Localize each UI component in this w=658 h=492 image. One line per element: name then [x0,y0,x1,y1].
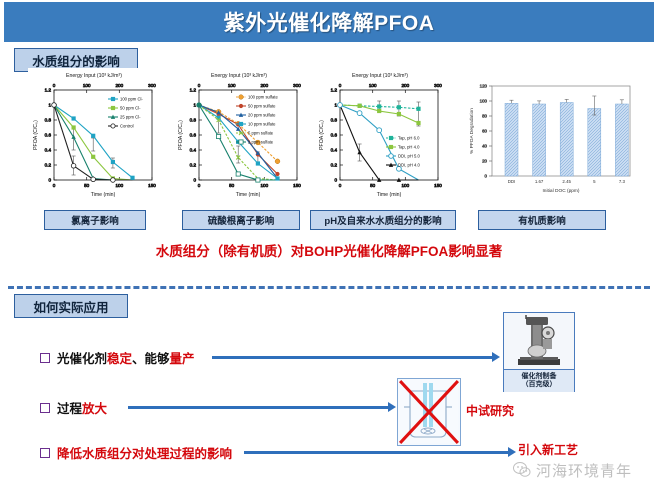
chart-organic-matter-effect: 0 20 40 60 80 100 120 [458,72,640,204]
svg-text:60: 60 [482,129,487,134]
svg-text:100 ppm sulfate: 100 ppm sulfate [248,95,278,100]
svg-text:100: 100 [401,183,409,188]
svg-text:0: 0 [339,83,342,88]
caption-sulfate-label: 硫酸根离子影响 [208,213,275,227]
catalyst-preparation-card: 催化剂制备 （百克级） [503,312,575,392]
svg-text:1.2: 1.2 [190,88,197,93]
svg-text:100: 100 [369,83,377,88]
svg-text:120: 120 [480,84,488,89]
svg-text:100: 100 [480,99,488,104]
chart-3-top-axis-label: Energy Input (10³ kJ/m³) [352,73,408,79]
svg-text:150: 150 [434,183,442,188]
bullet-process-scaleup: 过程放大 [40,398,107,417]
svg-text:5 ppm sulfate: 5 ppm sulfate [248,131,274,136]
svg-text:0.8: 0.8 [190,118,197,123]
chart-chloride-effect: Energy Input (10³ kJ/m³) 0 100 200 300 0… [28,68,161,206]
svg-text:7.3: 7.3 [619,179,626,184]
svg-text:0.4: 0.4 [45,148,52,153]
caption-organic-matter: 有机质影响 [478,210,606,230]
slide-title-bar: 紫外光催化降解PFOA [4,2,654,42]
chart-2-legend: 100 ppm sulfate 50 ppm sulfate 20 ppm su… [236,95,278,145]
caption-chloride: 氯离子影响 [44,210,146,230]
svg-text:0.8: 0.8 [331,118,338,123]
bullet-2-text: 过程放大 [57,398,107,417]
svg-text:0: 0 [198,183,201,188]
svg-text:DDI, pH 4.0: DDI, pH 4.0 [398,163,421,168]
chart-2-ylabel: PFOA (C/C₀) [178,120,184,150]
chart-1-legend: 100 ppm Cl- 50 ppm Cl- 25 ppm Cl- Contro… [108,97,143,129]
chart-1-svg: Energy Input (10³ kJ/m³) 0 100 200 300 0… [28,68,161,206]
chart-sulfate-effect: Energy Input (10³ kJ/m³) 0 100 200 300 0… [173,68,306,206]
chart-4-bars [505,103,628,177]
svg-text:1.2: 1.2 [45,88,52,93]
svg-text:0: 0 [339,183,342,188]
svg-text:5: 5 [593,179,596,184]
chart-4-ylabel: % PFOA Degradation [469,108,475,154]
catalyst-label-line1: 催化剂制备 [522,373,557,381]
svg-text:Tap, pH 6.0: Tap, pH 6.0 [398,136,420,141]
catalyst-label-line2: （百克级） [522,381,557,389]
chart-3-svg: Energy Input (10³ kJ/m³) 0 100 200 300 0… [314,68,447,206]
bullet-1-text: 光催化剂稳定、能够量产 [57,348,195,367]
caption-sulfate: 硫酸根离子影响 [182,210,300,230]
svg-text:10 ppm sulfate: 10 ppm sulfate [248,122,276,127]
svg-text:50: 50 [370,183,376,188]
svg-text:Tap, pH 4.0: Tap, pH 4.0 [398,145,420,150]
bullet-3-text: 降低水质组分对处理过程的影响 [57,443,232,462]
svg-text:1.2: 1.2 [331,88,338,93]
svg-text:Control: Control [120,124,134,129]
svg-text:1: 1 [193,103,196,108]
svg-text:150: 150 [293,183,301,188]
svg-text:0.6: 0.6 [45,133,52,138]
svg-text:100: 100 [83,83,91,88]
svg-text:80: 80 [482,114,487,119]
watermark-text: 河海环境青年 [536,460,632,481]
caption-ph-tapwater-label: pH及自来水水质组分的影响 [324,213,441,227]
caption-chloride-label: 氯离子影响 [71,213,119,227]
svg-text:50: 50 [84,183,90,188]
svg-text:1: 1 [48,103,51,108]
bullet-catalyst-stable: 光催化剂稳定、能够量产 [40,348,195,367]
slide-title: 紫外光催化降解PFOA [224,7,435,37]
svg-text:1: 1 [334,103,337,108]
chart-1-ylabel: PFOA (C/C₀) [33,120,39,150]
chart-4-xlabel: Initial DOC (ppm) [542,188,579,194]
chart-1-top-axis-label: Energy Input (10³ kJ/m³) [66,73,122,79]
svg-text:DDI: DDI [508,179,516,184]
caption-ph-tapwater: pH及自来水水质组分的影响 [310,210,456,230]
svg-text:0: 0 [53,183,56,188]
svg-text:40: 40 [482,144,487,149]
svg-text:150: 150 [148,183,156,188]
chart-2-svg: Energy Input (10³ kJ/m³) 0 100 200 300 0… [173,68,306,206]
pilot-study-label: 中试研究 [466,402,514,419]
bullet-square-icon [40,403,50,413]
svg-text:100: 100 [228,83,236,88]
pilot-reactor-card [397,378,461,446]
svg-text:0: 0 [193,178,196,183]
arrow-to-reactor [128,404,396,410]
arrow-to-catalyst [212,354,500,360]
svg-text:0.4: 0.4 [331,148,338,153]
svg-text:DDI, pH 5.0: DDI, pH 5.0 [398,154,421,159]
section-divider [8,286,650,289]
red-cross-out-icon [398,379,460,445]
chart-1-xlabel: Time (min) [91,192,116,198]
catalyst-card-label: 催化剂制备 （百克级） [504,369,574,392]
svg-text:100 ppm Cl-: 100 ppm Cl- [120,97,143,102]
svg-text:200: 200 [115,83,123,88]
chart-ph-tapwater-effect: Energy Input (10³ kJ/m³) 0 100 200 300 0… [314,68,447,206]
svg-text:0.8: 0.8 [45,118,52,123]
svg-text:100: 100 [260,183,268,188]
svg-text:50 ppm sulfate: 50 ppm sulfate [248,104,276,109]
svg-text:0: 0 [334,178,337,183]
svg-text:20: 20 [482,159,487,164]
svg-text:200: 200 [260,83,268,88]
slide: 紫外光催化降解PFOA 水质组分的影响 Energy Input (10³ kJ… [0,0,658,492]
svg-text:0.2: 0.2 [190,163,197,168]
caption-organic-matter-label: 有机质影响 [518,213,566,227]
svg-text:1.67: 1.67 [535,179,544,184]
wechat-logo-icon [512,460,532,480]
catalyst-equipment-photo [504,313,574,369]
svg-text:50: 50 [229,183,235,188]
svg-text:100: 100 [115,183,123,188]
svg-text:0: 0 [48,178,51,183]
section-header-application: 如何实际应用 [14,294,128,318]
svg-text:0.6: 0.6 [331,133,338,138]
bullet-reduce-water-quality-impact: 降低水质组分对处理过程的影响 [40,443,232,462]
section-header-1-label: 水质组分的影响 [32,51,120,70]
svg-text:0.4: 0.4 [190,148,197,153]
svg-text:0: 0 [53,83,56,88]
svg-text:0.2: 0.2 [45,163,52,168]
svg-text:2 ppm sulfate: 2 ppm sulfate [248,140,274,145]
svg-text:25 ppm Cl-: 25 ppm Cl- [120,115,141,120]
section-header-2-label: 如何实际应用 [33,297,108,316]
chart-4-svg: 0 20 40 60 80 100 120 [458,72,640,204]
chart-3-xlabel: Time (min) [377,192,402,198]
arrow-to-new-process [244,449,516,455]
svg-text:2.45: 2.45 [562,179,571,184]
watermark: 河海环境青年 [512,456,652,484]
svg-text:0: 0 [198,83,201,88]
chart-2-xlabel: Time (min) [236,192,261,198]
conclusion-text: 水质组分（除有机质）对BOHP光催化降解PFOA影响显著 [0,240,658,260]
bullet-square-icon [40,448,50,458]
svg-text:0.6: 0.6 [190,133,197,138]
chart-2-top-axis-label: Energy Input (10³ kJ/m³) [211,73,267,79]
svg-text:300: 300 [148,83,156,88]
chart-3-ylabel: PFOA (C/C₀) [319,120,325,150]
chart-4-xtick-labels: DDI 1.67 2.45 5 7.3 [508,179,626,184]
svg-text:20 ppm sulfate: 20 ppm sulfate [248,113,276,118]
svg-text:0: 0 [485,174,488,179]
svg-text:200: 200 [401,83,409,88]
chart-3-legend: Tap, pH 6.0 Tap, pH 4.0 DDI, pH 5.0 DDI,… [386,136,421,168]
svg-text:300: 300 [293,83,301,88]
svg-text:0.2: 0.2 [331,163,338,168]
bullet-square-icon [40,353,50,363]
svg-text:50 ppm Cl-: 50 ppm Cl- [120,106,141,111]
svg-text:300: 300 [434,83,442,88]
